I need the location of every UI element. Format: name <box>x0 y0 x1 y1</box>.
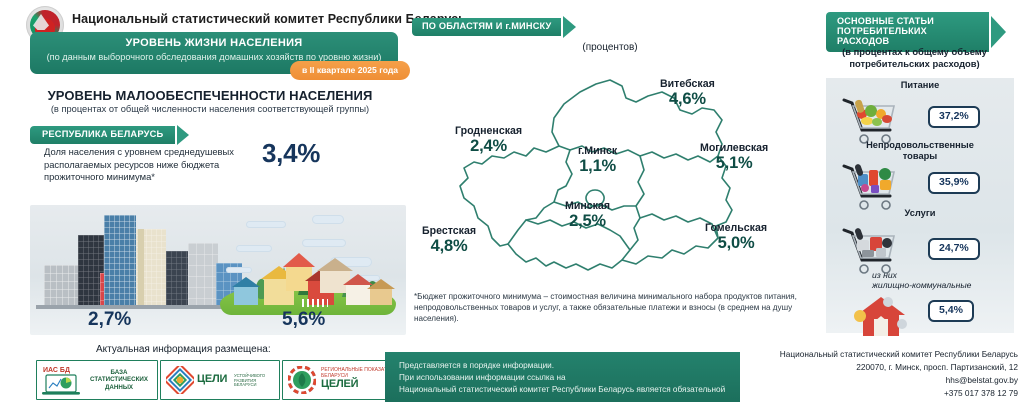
contact-organization: Национальный статистический комитет Респ… <box>744 348 1018 361</box>
contact-phone: +375 017 378 12 79 <box>744 387 1018 400</box>
expense-label-food: Питание <box>826 80 1014 91</box>
logo-regional-sdg-title: ЦЕЛЕЙ <box>321 378 358 391</box>
urban-rural-illustration: 2,7% <box>30 205 406 335</box>
expense-value-goods: 35,9% <box>928 172 980 194</box>
republic-tag-label: РЕСПУБЛИКА БЕЛАРУСЬ <box>30 126 175 143</box>
contact-address: 220070, г. Минск, просп. Партизанский, 1… <box>744 361 1018 374</box>
logo-sdg-belarus[interactable]: ЦЕЛИ УСТОЙЧИВОГО РАЗВИТИЯ БЕЛАРУСИ <box>160 360 280 400</box>
organization-title: Национальный статистический комитет Респ… <box>72 12 466 26</box>
living-minimum-note: *Бюджет прожиточного минимума – стоимост… <box>414 292 812 325</box>
infographic-poster: Национальный статистический комитет Респ… <box>0 0 1024 410</box>
expense-label-services: Услуги <box>826 208 1014 219</box>
logo-sdg-belarus-subtitle: УСТОЙЧИВОГО РАЗВИТИЯ БЕЛАРУСИ <box>234 374 279 388</box>
region-label-minsk-city: г.Минск 1,1% <box>578 145 617 176</box>
expense-value-food: 37,2% <box>928 106 980 128</box>
expense-label-goods: Непродовольственные товары <box>826 140 1014 162</box>
region-label-gomel: Гомельская 5,0% <box>705 222 767 253</box>
arrow-right-icon <box>563 16 576 38</box>
footer-disclaimer: Представляется в порядке информации. При… <box>385 352 740 402</box>
logo-statistics-database-label: БАЗА СТАТИСТИЧЕСКИХ ДАННЫХ <box>85 369 153 391</box>
expenses-subtitle: (в процентах к общему объему потребитель… <box>812 46 1017 70</box>
republic-value: 3,4% <box>262 138 320 169</box>
poverty-title: УРОВЕНЬ МАЛООБЕСПЕЧЕННОСТИ НАСЕЛЕНИЯ <box>0 88 420 103</box>
region-label-brest: Брестская 4,8% <box>422 225 476 256</box>
region-label-mogilev: Могилевская 5,1% <box>700 142 768 173</box>
footer-contact: Национальный статистический комитет Респ… <box>744 348 1024 399</box>
period-badge: в II квартале 2025 года <box>290 61 410 80</box>
city-poverty-value: 2,7% <box>88 309 131 331</box>
map-tag: ПО ОБЛАСТЯМ И г.МИНСКУ <box>412 16 576 38</box>
poverty-definition: Доля населения с уровнем среднедушевых р… <box>44 146 234 184</box>
poverty-subtitle: (в процентах от общей численности населе… <box>0 104 420 114</box>
map-units-label: (процентов) <box>520 42 700 53</box>
republic-tag: РЕСПУБЛИКА БЕЛАРУСЬ <box>30 125 189 145</box>
sdg-circle-icon <box>288 366 316 394</box>
logo-statistics-database[interactable]: ИАС БД БАЗА СТАТИСТИЧЕСКИХ ДАННЫХ <box>36 360 158 400</box>
expense-label-utilities: из них жилищно-коммунальные <box>872 270 1010 291</box>
belarus-region-map <box>430 58 806 298</box>
contact-email[interactable]: hhs@belstat.gov.by <box>744 374 1018 387</box>
expense-value-utilities: 5,4% <box>928 300 974 322</box>
rural-poverty-value: 5,6% <box>282 309 325 331</box>
region-label-minsk-oblast: Минская 2,5% <box>565 200 610 231</box>
utilities-house-icon <box>852 294 910 343</box>
map-tag-label: ПО ОБЛАСТЯМ И г.МИНСКУ <box>412 18 561 35</box>
arrow-right-icon <box>991 16 1006 48</box>
header-band-title: УРОВЕНЬ ЖИЗНИ НАСЕЛЕНИЯ <box>30 37 398 49</box>
expenses-panel: Питание 37,2% Непродовольственные товары <box>826 78 1014 333</box>
expense-value-services: 24,7% <box>928 238 980 260</box>
region-label-grodno: Гродненская 2,4% <box>455 125 522 156</box>
footer-lead: Актуальная информация размещена: <box>96 344 271 355</box>
arrow-right-icon <box>177 125 189 145</box>
logo-sdg-belarus-title: ЦЕЛИ <box>197 373 227 386</box>
sdg-diamond-icon <box>166 366 194 394</box>
laptop-chart-icon: ИАС БД <box>40 363 84 397</box>
svg-text:ИАС БД: ИАС БД <box>43 367 70 374</box>
region-label-vitebsk: Витебская 4,6% <box>660 78 715 109</box>
